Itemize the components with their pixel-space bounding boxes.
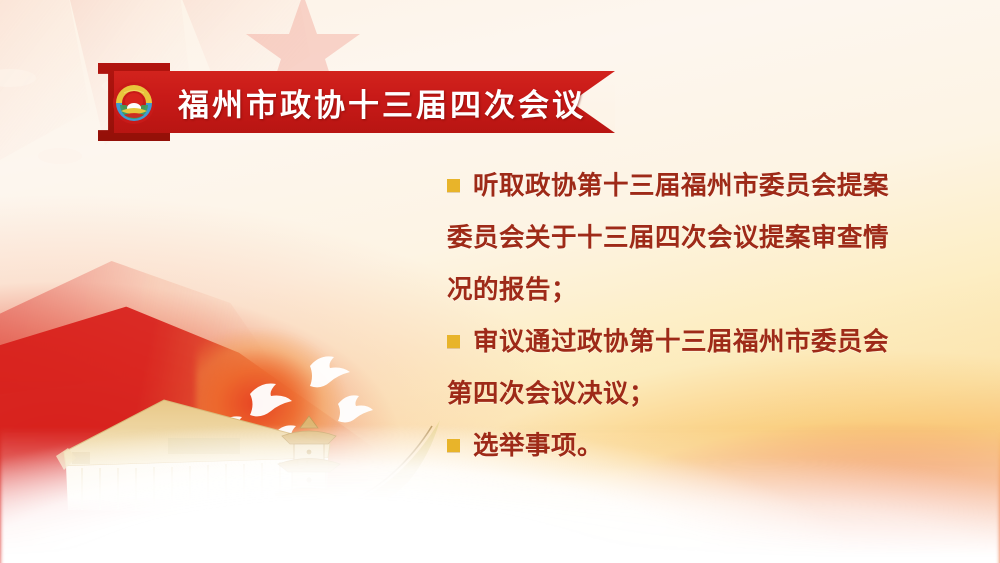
bullet-square-icon: [447, 439, 460, 452]
cppcc-emblem-icon: [112, 81, 156, 125]
red-swash-decoration: [0, 300, 380, 563]
agenda-list: 听取政协第十三届福州市委员会提案委员会关于十三届四次会议提案审查情况的报告； 审…: [447, 160, 903, 472]
red-swash-soft: [0, 252, 270, 402]
cloud-mist-soft: [0, 467, 670, 563]
great-hall-building: [52, 392, 342, 542]
bullet-square-icon: [447, 335, 460, 348]
agenda-item-text: 听取政协第十三届福州市委员会提案委员会关于十三届四次会议提案审查情况的报告；: [447, 172, 889, 304]
poster-canvas: 福州市政协十三届四次会议 听取政协第十三届福州市委员会提案委员会关于十三届四次会…: [0, 0, 1000, 563]
bullet-square-icon: [447, 179, 460, 192]
agenda-item: 选举事项。: [447, 420, 903, 472]
title-banner: 福州市政协十三届四次会议: [98, 63, 615, 141]
golden-eave-ornament: [330, 412, 455, 517]
agenda-item: 听取政协第十三届福州市委员会提案委员会关于十三届四次会议提案审查情况的报告；: [447, 160, 903, 316]
pagoda-icon: [270, 414, 348, 532]
peace-doves-icon: [210, 330, 440, 470]
orange-burst-decoration: [196, 330, 386, 490]
banner-title: 福州市政协十三届四次会议: [178, 71, 578, 133]
agenda-item-text: 选举事项。: [473, 432, 603, 460]
agenda-item-text: 审议通过政协第十三届福州市委员会第四次会议决议；: [447, 328, 889, 408]
agenda-item: 审议通过政协第十三届福州市委员会第四次会议决议；: [447, 316, 903, 420]
